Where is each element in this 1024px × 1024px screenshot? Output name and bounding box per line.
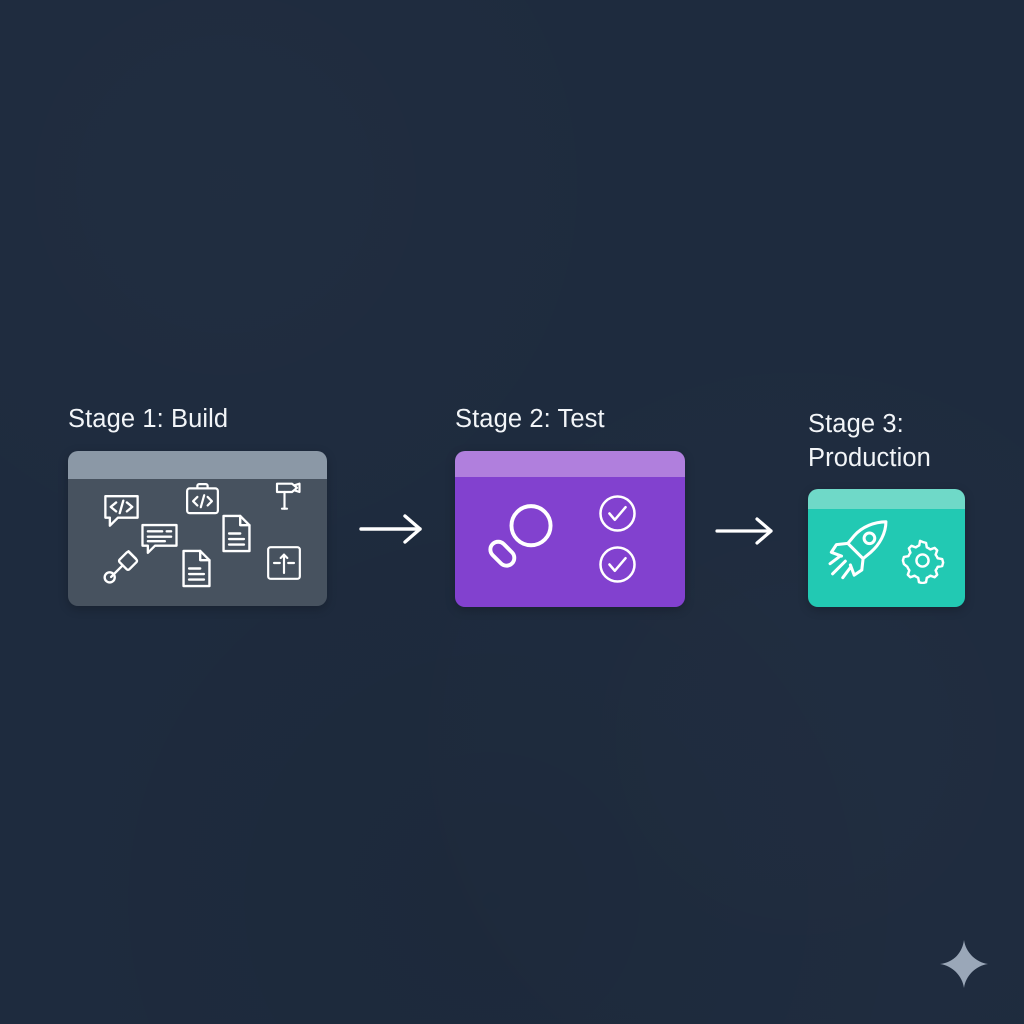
stage-block-production: Stage 3: Production [808,408,965,607]
stage-card-build[interactable] [68,451,327,606]
arrow-right-icon [358,513,426,545]
production-icon-cluster [808,489,965,607]
code-speech-bubble-icon [100,489,143,532]
pipeline-diagram: Stage 1: Build [0,0,1024,1024]
briefcase-code-icon [182,479,223,520]
stage-label-test: Stage 2: Test [455,403,685,437]
layout-align-icon [264,543,304,583]
test-icon-cluster [455,451,685,607]
gear-icon [899,537,946,584]
rocket-icon [822,518,894,584]
document-lines-icon [218,511,255,556]
sparkle-icon [938,938,990,990]
stage-label-production: Stage 3: Production [808,408,965,476]
stage-block-build: Stage 1: Build [68,403,327,606]
hammer-icon [267,475,307,519]
stage-block-test: Stage 2: Test [455,403,685,607]
magnifier-icon [488,497,561,570]
stage-card-production[interactable] [808,489,965,607]
build-icon-cluster [68,451,327,606]
document-text-icon [178,546,215,591]
stage-label-build: Stage 1: Build [68,403,327,437]
check-circle-icon [596,492,639,535]
check-circle-icon [596,543,639,586]
gavel-icon [100,543,146,587]
arrow-right-icon [714,516,776,546]
stage-card-test[interactable] [455,451,685,607]
